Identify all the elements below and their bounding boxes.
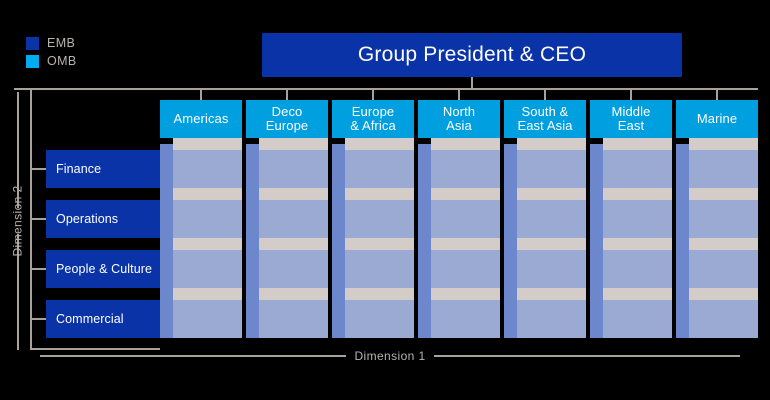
connector-row-stub-4 bbox=[32, 318, 46, 320]
matrix-cell[interactable] bbox=[431, 300, 500, 338]
matrix-horizontal-divider bbox=[431, 288, 500, 300]
legend-swatch-emb bbox=[26, 37, 39, 50]
connector-row-trunk-top bbox=[30, 88, 160, 90]
column-header-middle-east[interactable]: MiddleEast bbox=[590, 100, 672, 138]
matrix-cell[interactable] bbox=[259, 200, 328, 238]
matrix-horizontal-divider bbox=[431, 188, 500, 200]
legend-label-emb: EMB bbox=[47, 37, 75, 50]
matrix-horizontal-divider bbox=[603, 188, 672, 200]
axis-dimension-1-line-right bbox=[434, 355, 740, 357]
matrix-cell[interactable] bbox=[173, 300, 242, 338]
axis-dimension-1-line-left bbox=[40, 355, 346, 357]
column-header-label: Marine bbox=[697, 112, 737, 126]
matrix-horizontal-divider bbox=[259, 138, 328, 150]
connector-column-drop-2 bbox=[286, 90, 288, 100]
row-header-commercial[interactable]: Commercial bbox=[46, 300, 160, 338]
column-header-marine[interactable]: Marine bbox=[676, 100, 758, 138]
matrix-cell[interactable] bbox=[345, 150, 414, 188]
matrix-cell[interactable] bbox=[259, 300, 328, 338]
column-header-label: South &East Asia bbox=[517, 105, 572, 133]
connector-column-drop-5 bbox=[544, 90, 546, 100]
matrix-horizontal-divider bbox=[517, 188, 586, 200]
matrix-horizontal-divider bbox=[345, 238, 414, 250]
matrix-horizontal-divider bbox=[603, 288, 672, 300]
matrix-horizontal-divider bbox=[173, 188, 242, 200]
connector-column-drop-6 bbox=[630, 90, 632, 100]
matrix-cell[interactable] bbox=[431, 150, 500, 188]
legend-item-emb: EMB bbox=[26, 36, 146, 51]
axis-dimension-2: Dimension 2 bbox=[8, 92, 28, 350]
matrix-horizontal-divider bbox=[173, 138, 242, 150]
row-header-operations[interactable]: Operations bbox=[46, 200, 160, 238]
legend: EMB OMB bbox=[26, 36, 146, 72]
matrix-horizontal-divider bbox=[517, 138, 586, 150]
matrix-horizontal-divider bbox=[431, 238, 500, 250]
matrix-cell[interactable] bbox=[345, 250, 414, 288]
axis-dimension-2-label: Dimension 2 bbox=[5, 185, 31, 256]
matrix-cell[interactable] bbox=[345, 300, 414, 338]
row-header-finance[interactable]: Finance bbox=[46, 150, 160, 188]
matrix-horizontal-divider bbox=[345, 288, 414, 300]
matrix-horizontal-divider bbox=[345, 138, 414, 150]
matrix-cell[interactable] bbox=[603, 200, 672, 238]
matrix-cell[interactable] bbox=[517, 150, 586, 188]
matrix-cell[interactable] bbox=[431, 250, 500, 288]
matrix-vertical-divider-5 bbox=[504, 144, 517, 338]
matrix-cell[interactable] bbox=[689, 150, 758, 188]
matrix-horizontal-divider bbox=[603, 238, 672, 250]
matrix-horizontal-divider bbox=[517, 288, 586, 300]
matrix-cell[interactable] bbox=[259, 250, 328, 288]
matrix-cell[interactable] bbox=[173, 150, 242, 188]
connector-column-drop-1 bbox=[200, 90, 202, 100]
matrix-cell[interactable] bbox=[603, 300, 672, 338]
matrix-vertical-divider-2 bbox=[246, 144, 259, 338]
matrix-vertical-divider-6 bbox=[590, 144, 603, 338]
connector-row-stub-1 bbox=[32, 168, 46, 170]
matrix-horizontal-divider bbox=[689, 138, 758, 150]
matrix-cell[interactable] bbox=[689, 300, 758, 338]
matrix-horizontal-divider bbox=[431, 138, 500, 150]
matrix-cell[interactable] bbox=[259, 150, 328, 188]
matrix-cell[interactable] bbox=[431, 200, 500, 238]
matrix-cell[interactable] bbox=[689, 250, 758, 288]
column-header-europe-africa[interactable]: Europe& Africa bbox=[332, 100, 414, 138]
matrix-cell[interactable] bbox=[517, 300, 586, 338]
column-header-label: Americas bbox=[174, 112, 229, 126]
matrix-vertical-divider-1 bbox=[160, 144, 173, 338]
legend-label-omb: OMB bbox=[47, 55, 77, 68]
axis-dimension-1-label: Dimension 1 bbox=[346, 349, 433, 363]
matrix-horizontal-divider bbox=[689, 238, 758, 250]
axis-dimension-1: Dimension 1 bbox=[40, 346, 740, 366]
column-header-label: Europe& Africa bbox=[350, 105, 396, 133]
matrix-horizontal-divider bbox=[173, 238, 242, 250]
matrix-cell[interactable] bbox=[517, 200, 586, 238]
matrix-cell[interactable] bbox=[173, 200, 242, 238]
matrix-horizontal-divider bbox=[689, 288, 758, 300]
matrix-horizontal-divider bbox=[259, 238, 328, 250]
connector-column-drop-4 bbox=[458, 90, 460, 100]
column-header-south-east-asia[interactable]: South &East Asia bbox=[504, 100, 586, 138]
matrix-horizontal-divider bbox=[345, 188, 414, 200]
matrix-cell[interactable] bbox=[603, 250, 672, 288]
matrix-vertical-divider-4 bbox=[418, 144, 431, 338]
matrix-horizontal-divider bbox=[259, 188, 328, 200]
row-header-label: People & Culture bbox=[56, 262, 152, 276]
connector-column-drop-7 bbox=[716, 90, 718, 100]
matrix-horizontal-divider bbox=[603, 138, 672, 150]
matrix-horizontal-divider bbox=[173, 288, 242, 300]
column-header-north-asia[interactable]: NorthAsia bbox=[418, 100, 500, 138]
node-group-president-ceo-label: Group President & CEO bbox=[358, 43, 586, 67]
matrix-vertical-divider-7 bbox=[676, 144, 689, 338]
matrix-cell[interactable] bbox=[517, 250, 586, 288]
matrix-horizontal-divider bbox=[689, 188, 758, 200]
connector-row-stub-3 bbox=[32, 268, 46, 270]
legend-item-omb: OMB bbox=[26, 54, 146, 69]
row-header-label: Operations bbox=[56, 212, 118, 226]
matrix-horizontal-divider bbox=[517, 238, 586, 250]
matrix-vertical-divider-3 bbox=[332, 144, 345, 338]
matrix-grid bbox=[160, 138, 758, 338]
matrix-cell[interactable] bbox=[689, 200, 758, 238]
node-group-president-ceo[interactable]: Group President & CEO bbox=[262, 33, 682, 77]
legend-swatch-omb bbox=[26, 55, 39, 68]
connector-row-stub-2 bbox=[32, 218, 46, 220]
connector-ceo-to-bus bbox=[471, 77, 473, 88]
column-header-deco-europe[interactable]: DecoEurope bbox=[246, 100, 328, 138]
row-header-label: Finance bbox=[56, 162, 101, 176]
column-header-label: NorthAsia bbox=[443, 105, 475, 133]
column-header-americas[interactable]: Americas bbox=[160, 100, 242, 138]
matrix-cell[interactable] bbox=[173, 250, 242, 288]
column-header-label: DecoEurope bbox=[266, 105, 309, 133]
column-header-label: MiddleEast bbox=[612, 105, 651, 133]
matrix-cell[interactable] bbox=[603, 150, 672, 188]
connector-column-drop-3 bbox=[372, 90, 374, 100]
matrix-horizontal-divider bbox=[259, 288, 328, 300]
matrix-cell[interactable] bbox=[345, 200, 414, 238]
row-header-people-culture[interactable]: People & Culture bbox=[46, 250, 160, 288]
row-header-label: Commercial bbox=[56, 312, 124, 326]
org-matrix-diagram: EMB OMB Group President & CEO Dimension … bbox=[0, 0, 770, 400]
